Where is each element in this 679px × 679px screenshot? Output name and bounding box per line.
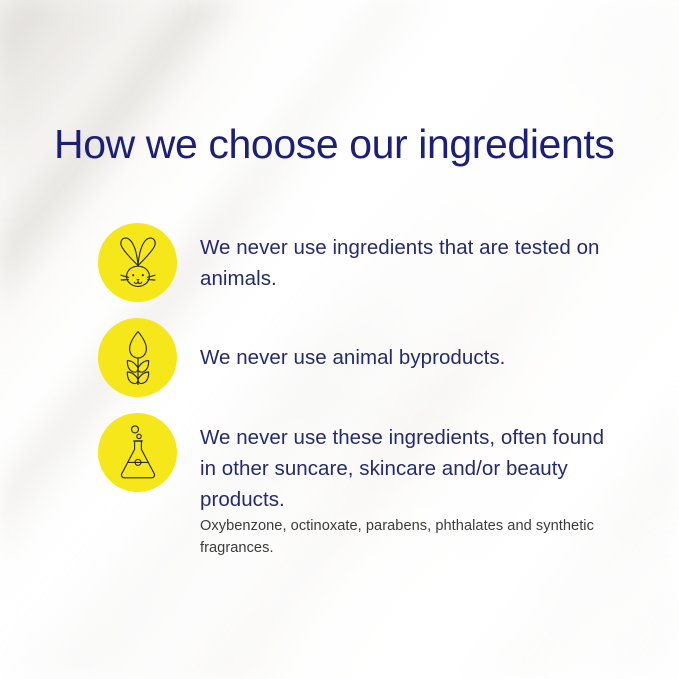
promo-graphic: How we choose our ingredients (0, 0, 679, 679)
claim-icon-badge (98, 413, 177, 492)
claim-text: We never use these ingredients, often fo… (200, 413, 620, 515)
claim-item: We never use ingredients that are tested… (98, 223, 620, 302)
claim-text: We never use animal byproducts. (200, 318, 505, 373)
content-area: How we choose our ingredients (0, 0, 679, 679)
claim-text: We never use ingredients that are tested… (200, 223, 620, 294)
chemistry-flask-icon (114, 424, 162, 482)
bunny-heart-ears-icon (112, 235, 164, 291)
claim-icon-badge (98, 223, 177, 302)
claim-icon-badge (98, 318, 177, 397)
claim-item: We never use animal byproducts. (98, 318, 505, 397)
claim-item: We never use these ingredients, often fo… (98, 413, 620, 515)
plant-leaf-sprout-icon (115, 329, 161, 387)
footnote-ingredient-list: Oxybenzone, octinoxate, parabens, phthal… (200, 515, 600, 559)
page-title: How we choose our ingredients (54, 122, 614, 168)
